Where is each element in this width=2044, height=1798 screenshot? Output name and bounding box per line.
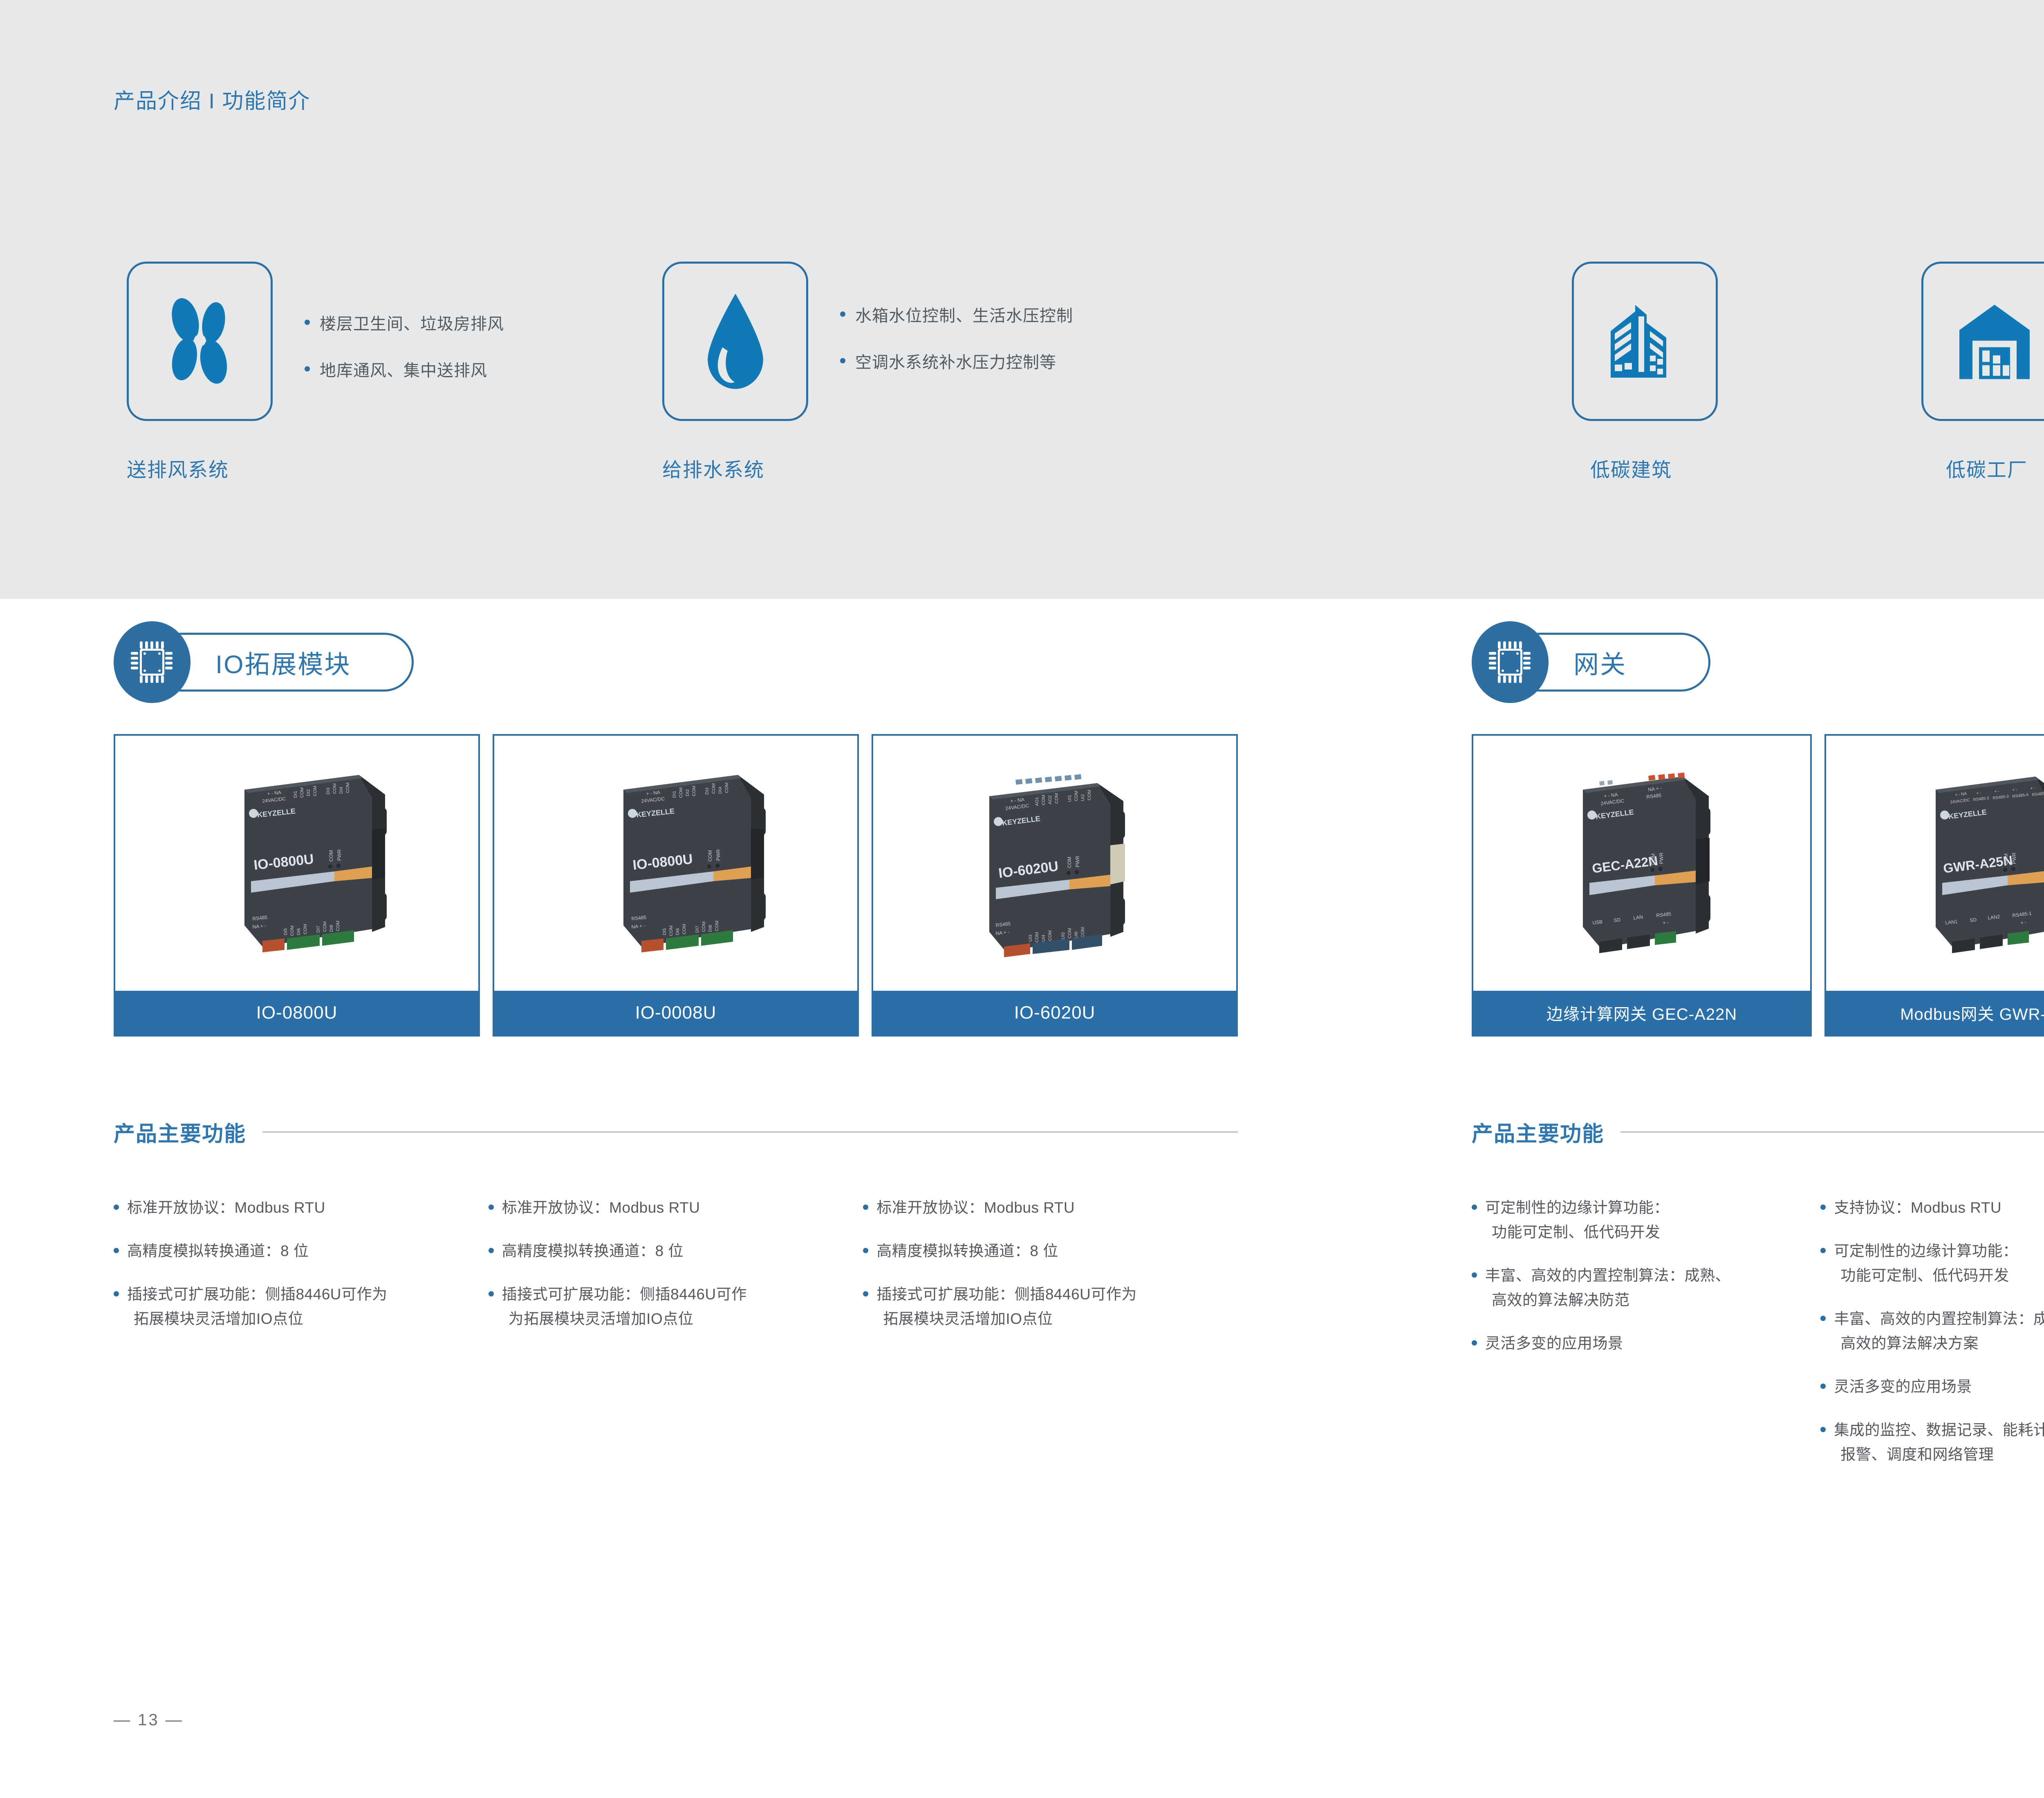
bullet-item: 地库通风、集中送排风 bbox=[305, 357, 504, 381]
section-badge-io: IO拓展模块 bbox=[114, 621, 1238, 707]
brochure-page: 产品介绍 I 功能简介 产品介绍 I 功能简介 送排风系统 楼层卫生间、垃圾房排… bbox=[0, 0, 2044, 1798]
svg-text:+ -: + - bbox=[2020, 919, 2027, 926]
svg-text:COM: COM bbox=[715, 920, 719, 931]
product-photo: IO-0800U KEYZELLE + - NA 24VAC/DC DI1 CO… bbox=[494, 736, 857, 991]
svg-text:UI5: UI5 bbox=[1061, 932, 1066, 939]
feature-columns-io: 标准开放协议：Modbus RTU 高精度模拟转换通道：8 位 插接式可扩展功能… bbox=[114, 1196, 1238, 1350]
svg-text:COM: COM bbox=[669, 925, 674, 936]
svg-text:DI4: DI4 bbox=[339, 787, 344, 794]
feature-text: 可定制性的边缘计算功能：功能可定制、低代码开发 bbox=[1834, 1239, 2018, 1288]
tile-low-carbon-building bbox=[1572, 262, 1718, 421]
bullet-dot bbox=[114, 1205, 119, 1210]
device-image-gec-a22n: GEC-A22N KEYZELLE + - NA 24VAC/DC NA + -… bbox=[1519, 757, 1764, 970]
chip-icon bbox=[1472, 621, 1549, 703]
bullet-dot bbox=[840, 358, 845, 363]
svg-text:COM: COM bbox=[682, 924, 687, 934]
feature-item: 标准开放协议：Modbus RTU bbox=[114, 1196, 489, 1220]
bullet-dot bbox=[114, 1248, 119, 1253]
feature-text: 集成的监控、数据记录、能耗计量、报警、调度和网络管理 bbox=[1834, 1418, 2044, 1467]
feature-text: 高精度模拟转换通道：8 位 bbox=[876, 1239, 1058, 1263]
bullet-item: 水箱水位控制、生活水压控制 bbox=[840, 302, 1073, 326]
svg-text:LAN: LAN bbox=[1633, 914, 1643, 921]
svg-text:+ -: + - bbox=[1663, 919, 1669, 926]
bullet-text: 地库通风、集中送排风 bbox=[320, 357, 487, 381]
bullet-dot bbox=[489, 1291, 494, 1296]
feature-item: 灵活多变的应用场景 bbox=[1472, 1331, 1820, 1356]
tile-low-carbon-factory bbox=[1921, 262, 2044, 421]
bullet-dot bbox=[863, 1248, 868, 1253]
fan-icon bbox=[157, 294, 243, 388]
feature-list: 标准开放协议：Modbus RTU 高精度模拟转换通道：8 位 插接式可扩展功能… bbox=[114, 1196, 489, 1350]
feature-item: 插接式可扩展功能：侧插8446U可作为拓展模块灵活增加IO点位 bbox=[863, 1282, 1238, 1331]
svg-text:DI8: DI8 bbox=[329, 925, 334, 932]
page-number-left: — 13 — bbox=[114, 1711, 184, 1729]
feature-item: 可定制性的边缘计算功能：功能可定制、低代码开发 bbox=[1820, 1239, 2044, 1288]
bullet-dot bbox=[1820, 1427, 1826, 1432]
svg-text:DI8: DI8 bbox=[708, 925, 713, 932]
svg-text:DI1: DI1 bbox=[672, 791, 677, 798]
badge-label-io: IO拓展模块 bbox=[215, 644, 351, 681]
feature-item: 灵活多变的应用场景 bbox=[1820, 1375, 2044, 1399]
bullet-item: 楼层卫生间、垃圾房排风 bbox=[305, 311, 504, 334]
svg-text:DI4: DI4 bbox=[718, 787, 723, 794]
feature-text: 插接式可扩展功能：侧插8446U可作为拓展模块灵活增加IO点位 bbox=[502, 1282, 747, 1331]
svg-text:COM: COM bbox=[1048, 930, 1053, 941]
bullet-dot bbox=[114, 1291, 119, 1296]
svg-text:SD: SD bbox=[1970, 917, 1977, 923]
water-drop-icon bbox=[701, 290, 770, 392]
section-io-modules: IO拓展模块 bbox=[114, 621, 1238, 1350]
svg-text:COM: COM bbox=[313, 786, 318, 796]
svg-text:PWR: PWR bbox=[336, 849, 342, 861]
feature-text: 支持协议：Modbus RTU bbox=[1834, 1196, 2001, 1220]
bullet-dot bbox=[840, 311, 845, 317]
feature-text: 插接式可扩展功能：侧插8446U可作为拓展模块灵活增加IO点位 bbox=[127, 1282, 388, 1331]
heading-rule bbox=[1620, 1131, 2044, 1133]
device-image-io-0800u: IO-0800U KEYZELLE + - NA 24VAC/DC DI1 CO… bbox=[166, 757, 428, 970]
svg-text:COM: COM bbox=[707, 850, 713, 862]
svg-text:COM: COM bbox=[332, 783, 337, 794]
bullet-text: 水箱水位控制、生活水压控制 bbox=[855, 302, 1073, 326]
svg-text:PWR: PWR bbox=[1075, 856, 1080, 867]
product-card[interactable]: GEC-A22N KEYZELLE + - NA 24VAC/DC NA + -… bbox=[1472, 734, 1812, 1037]
feature-text: 灵活多变的应用场景 bbox=[1485, 1331, 1623, 1356]
product-caption: Modbus网关 GWR-A25N bbox=[1826, 991, 2044, 1035]
svg-text:COM: COM bbox=[290, 925, 295, 936]
feature-item: 高精度模拟转换通道：8 位 bbox=[489, 1239, 863, 1263]
bullet-dot bbox=[863, 1291, 868, 1296]
feature-item: 高精度模拟转换通道：8 位 bbox=[114, 1239, 489, 1263]
feature-list: 支持协议：Modbus RTU 可定制性的边缘计算功能：功能可定制、低代码开发 … bbox=[1820, 1196, 2044, 1486]
skyscraper-icon bbox=[1604, 298, 1686, 384]
tile-label-low-carbon-building: 低碳建筑 bbox=[1590, 454, 1672, 482]
feature-item: 可定制性的边缘计算功能：功能可定制、低代码开发 bbox=[1472, 1196, 1820, 1245]
feature-item: 丰富、高效的内置控制算法：成熟、高效的算法解决方案 bbox=[1820, 1307, 2044, 1356]
svg-text:DI2: DI2 bbox=[306, 789, 311, 796]
bullet-dot bbox=[1820, 1205, 1826, 1210]
bullet-dot bbox=[305, 366, 310, 372]
features-heading-io: 产品主要功能 bbox=[114, 1117, 1238, 1147]
svg-text:COM: COM bbox=[1067, 857, 1072, 868]
svg-text:DI7: DI7 bbox=[316, 926, 321, 933]
svg-text:+ -: + - bbox=[2030, 786, 2035, 791]
product-card-row-gateway: GEC-A22N KEYZELLE + - NA 24VAC/DC NA + -… bbox=[1472, 734, 2044, 1037]
svg-text:AO2: AO2 bbox=[1048, 795, 1053, 804]
svg-text:COM: COM bbox=[2003, 853, 2009, 865]
chip-icon bbox=[114, 621, 191, 703]
product-photo: GWR-A25N KEYZELLE + - NA + - + - + - + -… bbox=[1826, 736, 2044, 991]
feature-columns-gateway: 可定制性的边缘计算功能：功能可定制、低代码开发 丰富、高效的内置控制算法：成熟、… bbox=[1472, 1196, 2044, 1486]
feature-item: 高精度模拟转换通道：8 位 bbox=[863, 1239, 1238, 1263]
svg-text:UI3: UI3 bbox=[1028, 935, 1033, 942]
svg-text:+ -: + - bbox=[1976, 791, 1981, 796]
product-card[interactable]: IO-0800U KEYZELLE + - NA 24VAC/DC DI1 CO… bbox=[114, 734, 480, 1037]
svg-text:COM: COM bbox=[303, 924, 308, 934]
feature-item: 支持协议：Modbus RTU bbox=[1820, 1196, 2044, 1220]
svg-text:COM: COM bbox=[711, 783, 716, 794]
bullet-dot bbox=[489, 1248, 494, 1253]
section-badge-gateway: 网关 bbox=[1472, 621, 2044, 707]
svg-text:DI5: DI5 bbox=[283, 928, 288, 935]
bullet-text: 楼层卫生间、垃圾房排风 bbox=[320, 311, 504, 334]
product-photo: IO-0800U KEYZELLE + - NA 24VAC/DC DI1 CO… bbox=[115, 736, 478, 991]
factory-icon bbox=[1958, 300, 2031, 383]
feature-list: 标准开放协议：Modbus RTU 高精度模拟转换通道：8 位 插接式可扩展功能… bbox=[489, 1196, 863, 1350]
svg-text:COM: COM bbox=[300, 787, 305, 798]
svg-text:AO1: AO1 bbox=[1035, 797, 1040, 806]
feature-text: 标准开放协议：Modbus RTU bbox=[876, 1196, 1075, 1220]
product-photo: GEC-A22N KEYZELLE + - NA 24VAC/DC NA + -… bbox=[1473, 736, 1810, 991]
bullet-list-water-supply: 水箱水位控制、生活水压控制 空调水系统补水压力控制等 bbox=[840, 302, 1073, 396]
svg-text:UI4: UI4 bbox=[1041, 935, 1046, 942]
feature-item: 插接式可扩展功能：侧插8446U可作为拓展模块灵活增加IO点位 bbox=[489, 1282, 863, 1331]
feature-item: 集成的监控、数据记录、能耗计量、报警、调度和网络管理 bbox=[1820, 1418, 2044, 1467]
product-card[interactable]: IO-0800U KEYZELLE + - NA 24VAC/DC DI1 CO… bbox=[493, 734, 859, 1037]
svg-text:DI7: DI7 bbox=[695, 926, 700, 933]
product-caption: IO-0800U bbox=[115, 991, 478, 1035]
feature-text: 灵活多变的应用场景 bbox=[1834, 1375, 1972, 1399]
svg-text:DI6: DI6 bbox=[675, 928, 680, 935]
page-header-left: 产品介绍 I 功能简介 bbox=[114, 84, 310, 114]
svg-text:COM: COM bbox=[692, 786, 697, 796]
product-caption: IO-6020U bbox=[873, 991, 1236, 1035]
section-gateways: 网关 bbox=[1472, 621, 2044, 1486]
tile-ventilation bbox=[127, 262, 273, 421]
svg-text:PWR: PWR bbox=[1659, 853, 1664, 864]
device-image-io-0008u: IO-0800U KEYZELLE + - NA 24VAC/DC DI1 CO… bbox=[545, 757, 807, 970]
features-title: 产品主要功能 bbox=[114, 1117, 246, 1147]
svg-text:COM: COM bbox=[1074, 790, 1079, 801]
svg-text:COM: COM bbox=[345, 782, 350, 793]
svg-text:DI6: DI6 bbox=[296, 928, 301, 935]
top-application-band: 产品介绍 I 功能简介 产品介绍 I 功能简介 送排风系统 楼层卫生间、垃圾房排… bbox=[0, 0, 2044, 599]
svg-text:COM: COM bbox=[724, 782, 729, 793]
badge-label-gateway: 网关 bbox=[1573, 644, 1627, 681]
svg-text:UI1: UI1 bbox=[1067, 795, 1072, 802]
feature-text: 标准开放协议：Modbus RTU bbox=[502, 1196, 700, 1220]
feature-text: 高精度模拟转换通道：8 位 bbox=[127, 1239, 309, 1263]
product-card[interactable]: IO-6020U KEYZELLE + - NA 24VAC/DC AO1 CO… bbox=[872, 734, 1238, 1037]
svg-text:UI6: UI6 bbox=[1074, 931, 1079, 938]
bullet-item: 空调水系统补水压力控制等 bbox=[840, 349, 1073, 373]
feature-text: 标准开放协议：Modbus RTU bbox=[127, 1196, 325, 1220]
svg-text:COM: COM bbox=[1041, 795, 1046, 805]
svg-text:PWR: PWR bbox=[2011, 853, 2017, 864]
svg-text:UI2: UI2 bbox=[1080, 794, 1085, 801]
feature-item: 标准开放协议：Modbus RTU bbox=[863, 1196, 1238, 1220]
svg-text:SD: SD bbox=[1614, 917, 1621, 923]
product-card-row-io: IO-0800U KEYZELLE + - NA 24VAC/DC DI1 CO… bbox=[114, 734, 1238, 1037]
tile-water-supply bbox=[662, 262, 808, 421]
svg-text:USB: USB bbox=[1592, 919, 1603, 926]
svg-text:PWR: PWR bbox=[715, 849, 721, 861]
bullet-dot bbox=[863, 1205, 868, 1210]
bullet-dot bbox=[305, 320, 310, 325]
product-photo: IO-6020U KEYZELLE + - NA 24VAC/DC AO1 CO… bbox=[873, 736, 1236, 991]
bullet-list-ventilation: 楼层卫生间、垃圾房排风 地库通风、集中送排风 bbox=[305, 311, 504, 404]
svg-text:+ -: + - bbox=[1994, 789, 1999, 794]
feature-text: 丰富、高效的内置控制算法：成熟、高效的算法解决防范 bbox=[1485, 1263, 1730, 1312]
svg-text:COM: COM bbox=[1087, 790, 1092, 800]
device-image-gwr-a25n: GWR-A25N KEYZELLE + - NA + - + - + - + -… bbox=[1872, 757, 2044, 970]
feature-list: 标准开放协议：Modbus RTU 高精度模拟转换通道：8 位 插接式可扩展功能… bbox=[863, 1196, 1238, 1350]
feature-text: 可定制性的边缘计算功能：功能可定制、低代码开发 bbox=[1485, 1196, 1669, 1245]
product-card[interactable]: GWR-A25N KEYZELLE + - NA + - + - + - + -… bbox=[1824, 734, 2044, 1037]
svg-text:+ -: + - bbox=[2012, 788, 2017, 793]
tile-label-water-supply: 给排水系统 bbox=[662, 454, 764, 482]
feature-text: 插接式可扩展功能：侧插8446U可作为拓展模块灵活增加IO点位 bbox=[876, 1282, 1137, 1331]
features-heading-gateway: 产品主要功能 bbox=[1472, 1117, 2044, 1147]
svg-text:COM: COM bbox=[702, 921, 706, 932]
bullet-dot bbox=[1820, 1384, 1826, 1389]
svg-text:DI3: DI3 bbox=[705, 788, 710, 795]
feature-text: 高精度模拟转换通道：8 位 bbox=[502, 1239, 684, 1263]
feature-item: 丰富、高效的内置控制算法：成熟、高效的算法解决防范 bbox=[1472, 1263, 1820, 1312]
product-caption: IO-0008U bbox=[494, 991, 857, 1035]
svg-text:DI5: DI5 bbox=[662, 928, 667, 935]
bullet-dot bbox=[1820, 1316, 1826, 1321]
svg-text:COM: COM bbox=[1650, 853, 1656, 865]
bullet-text: 空调水系统补水压力控制等 bbox=[855, 349, 1056, 373]
svg-text:COM: COM bbox=[1067, 928, 1072, 938]
svg-text:COM: COM bbox=[679, 787, 684, 798]
device-image-io-6020u: IO-6020U KEYZELLE + - NA 24VAC/DC AO1 CO… bbox=[924, 757, 1186, 970]
bullet-dot bbox=[489, 1205, 494, 1210]
svg-text:COM: COM bbox=[1035, 932, 1040, 943]
bullet-dot bbox=[1472, 1272, 1477, 1278]
svg-text:COM: COM bbox=[336, 920, 341, 931]
svg-text:DI3: DI3 bbox=[326, 788, 331, 795]
svg-text:COM: COM bbox=[1080, 927, 1085, 938]
feature-item: 插接式可扩展功能：侧插8446U可作为拓展模块灵活增加IO点位 bbox=[114, 1282, 489, 1331]
svg-text:DI2: DI2 bbox=[685, 789, 690, 796]
bullet-dot bbox=[1472, 1340, 1477, 1346]
svg-text:COM: COM bbox=[323, 921, 327, 932]
feature-list: 可定制性的边缘计算功能：功能可定制、低代码开发 丰富、高效的内置控制算法：成熟、… bbox=[1472, 1196, 1820, 1486]
features-title: 产品主要功能 bbox=[1472, 1117, 1604, 1147]
tile-label-low-carbon-factory: 低碳工厂 bbox=[1946, 454, 2028, 482]
svg-text:DI1: DI1 bbox=[293, 791, 298, 798]
badge-pill-io: IO拓展模块 bbox=[152, 633, 414, 692]
feature-text: 丰富、高效的内置控制算法：成熟、高效的算法解决方案 bbox=[1834, 1307, 2044, 1356]
feature-item: 标准开放协议：Modbus RTU bbox=[489, 1196, 863, 1220]
svg-text:COM: COM bbox=[1054, 793, 1059, 804]
svg-text:COM: COM bbox=[328, 850, 334, 862]
tile-label-ventilation: 送排风系统 bbox=[127, 454, 229, 482]
product-caption: 边缘计算网关 GEC-A22N bbox=[1473, 991, 1810, 1035]
heading-rule bbox=[262, 1131, 1238, 1133]
bullet-dot bbox=[1820, 1248, 1826, 1253]
bullet-dot bbox=[1472, 1205, 1477, 1210]
